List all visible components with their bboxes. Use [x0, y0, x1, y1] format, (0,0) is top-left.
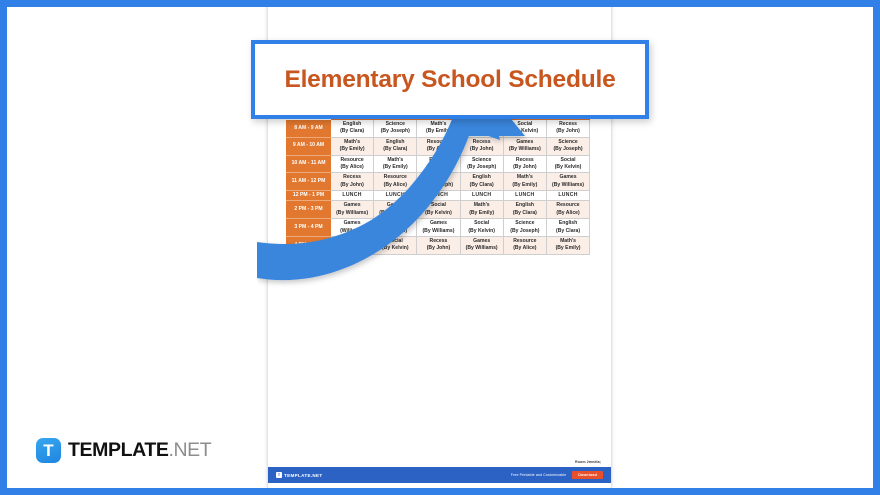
schedule-cell-subject: Resource: [504, 238, 546, 245]
schedule-cell: Resource(By Alice): [546, 201, 589, 219]
schedule-cell-subject: English: [374, 139, 416, 146]
schedule-cell: Social(By Kelvin): [546, 155, 589, 173]
document-footer-tagline: Free Printable and Customizable: [511, 473, 566, 477]
schedule-cell: Recess(By John): [460, 137, 503, 155]
schedule-cell-subject: Recess: [547, 121, 589, 128]
schedule-cell-teacher: (By John): [461, 146, 503, 153]
schedule-cell-subject: Social: [461, 220, 503, 227]
schedule-cell: English(By Clara): [503, 201, 546, 219]
schedule-time-cell: 2 PM - 3 PM: [287, 201, 331, 219]
schedule-cell-subject: Games: [331, 220, 373, 227]
schedule-cell-teacher: (By Joseph): [547, 146, 589, 153]
schedule-cell: Social(By Kelvin): [374, 236, 417, 254]
schedule-body: 8 AM - 9 AMEnglish(By Clara)Science(By J…: [287, 120, 590, 255]
schedule-cell-subject: English: [547, 220, 589, 227]
schedule-cell-subject: Recess: [504, 157, 546, 164]
document-footer-download-button[interactable]: Download: [572, 471, 603, 479]
schedule-cell: Recess(By John): [331, 173, 374, 191]
schedule-cell: Math's(By Emily): [374, 155, 417, 173]
schedule-cell-subject: Math's: [417, 121, 459, 128]
schedule-cell-subject: LUNCH: [374, 192, 416, 199]
schedule-cell: Science(By Joseph): [460, 155, 503, 173]
brand-name-bold: TEMPLATE: [68, 439, 168, 461]
schedule-cell-teacher: (By Clara): [331, 128, 373, 135]
schedule-cell-teacher: (By Williams): [461, 245, 503, 252]
schedule-cell-teacher: (By Williams): [504, 146, 546, 153]
document-footer-brand-name: TEMPLATE.NET: [284, 473, 322, 478]
schedule-cell-subject: Math's: [461, 202, 503, 209]
schedule-cell: LUNCH: [503, 191, 546, 201]
schedule-cell: English(By Clara): [331, 120, 374, 138]
schedule-cell: Math's(By Emily): [331, 137, 374, 155]
schedule-cell-teacher: (By Kelvin): [547, 164, 589, 171]
schedule-time-cell: 9 AM - 10 AM: [287, 137, 331, 155]
schedule-cell: Games(By Williams): [417, 219, 460, 237]
schedule-cell: Games(By Williams): [331, 201, 374, 219]
schedule-row: 3 PM - 4 PMGames(Williams)Recess(By John…: [287, 219, 590, 237]
schedule-cell-teacher: (By Kelvin): [374, 245, 416, 252]
schedule-cell: LUNCH: [417, 191, 460, 201]
schedule-cell: Games(By Williams): [460, 236, 503, 254]
schedule-cell: Recess(By John): [374, 219, 417, 237]
schedule-cell-subject: Resource: [331, 157, 373, 164]
schedule-cell-teacher: (By Joseph): [417, 182, 459, 189]
schedule-cell-teacher: (By Alice): [331, 164, 373, 171]
schedule-cell-teacher: (By John): [331, 182, 373, 189]
schedule-time-cell: 3 PM - 4 PM: [287, 219, 331, 237]
schedule-cell-subject: Social: [504, 121, 546, 128]
schedule-table: GRADE 1 GRADE 2 GRADE 3 GRADE 4 GRADE 5 …: [286, 107, 590, 255]
schedule-cell: Math's(By Emily): [503, 173, 546, 191]
schedule-cell-subject: LUNCH: [461, 192, 503, 199]
schedule-time-cell: 4 PM - 5 PM: [287, 236, 331, 254]
schedule-cell-subject: Games: [417, 220, 459, 227]
schedule-row: 12 PM - 1 PMLUNCHLUNCHLUNCHLUNCHLUNCHLUN…: [287, 191, 590, 201]
schedule-cell-subject: English: [461, 174, 503, 181]
schedule-cell: Science(By Joseph): [503, 219, 546, 237]
schedule-time-cell: 12 PM - 1 PM: [287, 191, 331, 201]
schedule-cell-teacher: (By Joseph): [504, 228, 546, 235]
schedule-cell-teacher: (By Kelvin): [461, 228, 503, 235]
schedule-cell: Recess(By John): [503, 155, 546, 173]
schedule-row: 2 PM - 3 PMGames(By Williams)Games(By Wi…: [287, 201, 590, 219]
schedule-cell-subject: English: [417, 157, 459, 164]
schedule-cell-subject: Math's: [331, 139, 373, 146]
schedule-cell-subject: Social: [374, 238, 416, 245]
schedule-cell-subject: Resource: [374, 174, 416, 181]
schedule-cell-subject: Recess: [417, 238, 459, 245]
page-title: Elementary School Schedule: [284, 66, 615, 94]
schedule-cell-subject: Recess: [374, 220, 416, 227]
schedule-cell: Social(By Kelvin): [460, 219, 503, 237]
schedule-cell-teacher: (By John): [374, 228, 416, 235]
schedule-cell-subject: Math's: [374, 157, 416, 164]
schedule-cell-teacher: (By Clara): [461, 182, 503, 189]
schedule-cell-teacher: (By Kelvin): [417, 210, 459, 217]
schedule-cell-teacher: (By Alice): [417, 146, 459, 153]
schedule-cell: Games(By Williams): [546, 173, 589, 191]
schedule-cell-teacher: (By Alice): [461, 128, 503, 135]
schedule-cell: Science(By Joseph): [331, 236, 374, 254]
schedule-cell-subject: LUNCH: [331, 192, 373, 199]
schedule-cell-teacher: (By Joseph): [331, 245, 373, 252]
schedule-cell: Math's(By Emily): [417, 120, 460, 138]
schedule-cell-teacher: (By Emily): [504, 182, 546, 189]
schedule-cell-teacher: (By Emily): [547, 245, 589, 252]
schedule-cell-teacher: (By Emily): [331, 146, 373, 153]
schedule-time-cell: 11 AM - 12 PM: [287, 173, 331, 191]
brand-logo: T TEMPLATE.NET: [36, 438, 211, 463]
schedule-cell-teacher: (By John): [417, 245, 459, 252]
schedule-cell-subject: Math's: [547, 238, 589, 245]
schedule-cell-teacher: (By Joseph): [461, 164, 503, 171]
schedule-cell-teacher: (By Clara): [417, 164, 459, 171]
schedule-cell-subject: Math's: [504, 174, 546, 181]
schedule-cell: Social(By Kelvin): [417, 201, 460, 219]
schedule-cell-subject: English: [331, 121, 373, 128]
schedule-cell-subject: Science: [504, 220, 546, 227]
schedule-cell: Resource(By Alice): [331, 155, 374, 173]
schedule-cell-teacher: (By John): [504, 164, 546, 171]
schedule-cell-teacher: (By Williams): [547, 182, 589, 189]
schedule-cell: Resource(By Alice): [460, 120, 503, 138]
schedule-cell-subject: Games: [461, 238, 503, 245]
schedule-cell-teacher: (By Emily): [374, 164, 416, 171]
schedule-time-cell: 10 AM - 11 AM: [287, 155, 331, 173]
schedule-cell: Games(By Williams): [503, 137, 546, 155]
schedule-cell-subject: Science: [374, 121, 416, 128]
schedule-cell-subject: Resource: [461, 121, 503, 128]
schedule-cell-teacher: (Williams): [331, 228, 373, 235]
schedule-cell-teacher: (By John): [547, 128, 589, 135]
schedule-cell: Science(By Joseph): [374, 120, 417, 138]
schedule-cell: English(By Clara): [460, 173, 503, 191]
schedule-cell-teacher: (By Clara): [374, 146, 416, 153]
schedule-cell: LUNCH: [331, 191, 374, 201]
schedule-cell-subject: Social: [547, 157, 589, 164]
schedule-cell-subject: Recess: [331, 174, 373, 181]
schedule-cell-teacher: (By Clara): [547, 228, 589, 235]
schedule-cell-teacher: (By Emily): [461, 210, 503, 217]
schedule-cell: Science(By Joseph): [546, 137, 589, 155]
schedule-cell: LUNCH: [546, 191, 589, 201]
schedule-cell-subject: English: [504, 202, 546, 209]
schedule-cell: Math's(By Emily): [460, 201, 503, 219]
schedule-cell-subject: Science: [547, 139, 589, 146]
schedule-cell-teacher: (By Williams): [417, 228, 459, 235]
schedule-cell: Resource(By Alice): [374, 173, 417, 191]
schedule-row: 4 PM - 5 PMScience(By Joseph)Social(By K…: [287, 236, 590, 254]
schedule-cell-subject: Social: [417, 202, 459, 209]
schedule-cell: English(By Clara): [417, 155, 460, 173]
page-micro-note: Room 2media;: [575, 460, 601, 464]
schedule-cell: Resource(By Alice): [417, 137, 460, 155]
schedule-cell-teacher: (By Kelvin): [504, 128, 546, 135]
schedule-cell-subject: Resource: [547, 202, 589, 209]
schedule-cell: Games(By Williams): [374, 201, 417, 219]
schedule-cell-subject: LUNCH: [547, 192, 589, 199]
template-badge-icon: T: [276, 472, 282, 478]
schedule-cell-teacher: (By Joseph): [374, 128, 416, 135]
schedule-cell-teacher: (By Williams): [331, 210, 373, 217]
schedule-cell: Games(Williams): [331, 219, 374, 237]
schedule-cell-subject: Recess: [461, 139, 503, 146]
brand-name-light: .NET: [168, 439, 211, 461]
schedule-row: 8 AM - 9 AMEnglish(By Clara)Science(By J…: [287, 120, 590, 138]
schedule-cell-teacher: (By Emily): [417, 128, 459, 135]
schedule-cell-subject: Science: [331, 238, 373, 245]
schedule-cell: Social(By Kelvin): [503, 120, 546, 138]
screenshot-frame: GRADE 1 GRADE 2 GRADE 3 GRADE 4 GRADE 5 …: [0, 0, 880, 495]
schedule-row: 9 AM - 10 AMMath's(By Emily)English(By C…: [287, 137, 590, 155]
template-logo-icon: T: [36, 438, 61, 463]
schedule-cell-subject: LUNCH: [417, 192, 459, 199]
title-callout-box: Elementary School Schedule: [251, 40, 649, 119]
schedule-cell-teacher: (By Alice): [374, 182, 416, 189]
schedule-cell-subject: Games: [504, 139, 546, 146]
schedule-cell-subject: LUNCH: [504, 192, 546, 199]
schedule-cell-teacher: (By Alice): [504, 245, 546, 252]
schedule-cell: LUNCH: [374, 191, 417, 201]
schedule-cell: English(By Clara): [546, 219, 589, 237]
schedule-time-cell: 8 AM - 9 AM: [287, 120, 331, 138]
document-footer-bar: T TEMPLATE.NET Free Printable and Custom…: [268, 467, 611, 483]
schedule-row: 11 AM - 12 PMRecess(By John)Resource(By …: [287, 173, 590, 191]
schedule-cell: Recess(By John): [546, 120, 589, 138]
schedule-cell-teacher: (By Clara): [504, 210, 546, 217]
schedule-cell: Science(By Joseph): [417, 173, 460, 191]
schedule-cell: Recess(By John): [417, 236, 460, 254]
schedule-cell-subject: Science: [461, 157, 503, 164]
schedule-cell-subject: Games: [547, 174, 589, 181]
schedule-row: 10 AM - 11 AMResource(By Alice)Math's(By…: [287, 155, 590, 173]
schedule-cell-subject: Science: [417, 174, 459, 181]
schedule-cell-teacher: (By Alice): [547, 210, 589, 217]
schedule-cell-subject: Games: [331, 202, 373, 209]
schedule-cell-subject: Resource: [417, 139, 459, 146]
document-footer-brand: T TEMPLATE.NET: [276, 472, 322, 478]
schedule-cell: English(By Clara): [374, 137, 417, 155]
schedule-cell-teacher: (By Williams): [374, 210, 416, 217]
schedule-cell: Math's(By Emily): [546, 236, 589, 254]
brand-wordmark: TEMPLATE.NET: [68, 439, 211, 462]
schedule-cell: Resource(By Alice): [503, 236, 546, 254]
schedule-cell: LUNCH: [460, 191, 503, 201]
schedule-cell-subject: Games: [374, 202, 416, 209]
